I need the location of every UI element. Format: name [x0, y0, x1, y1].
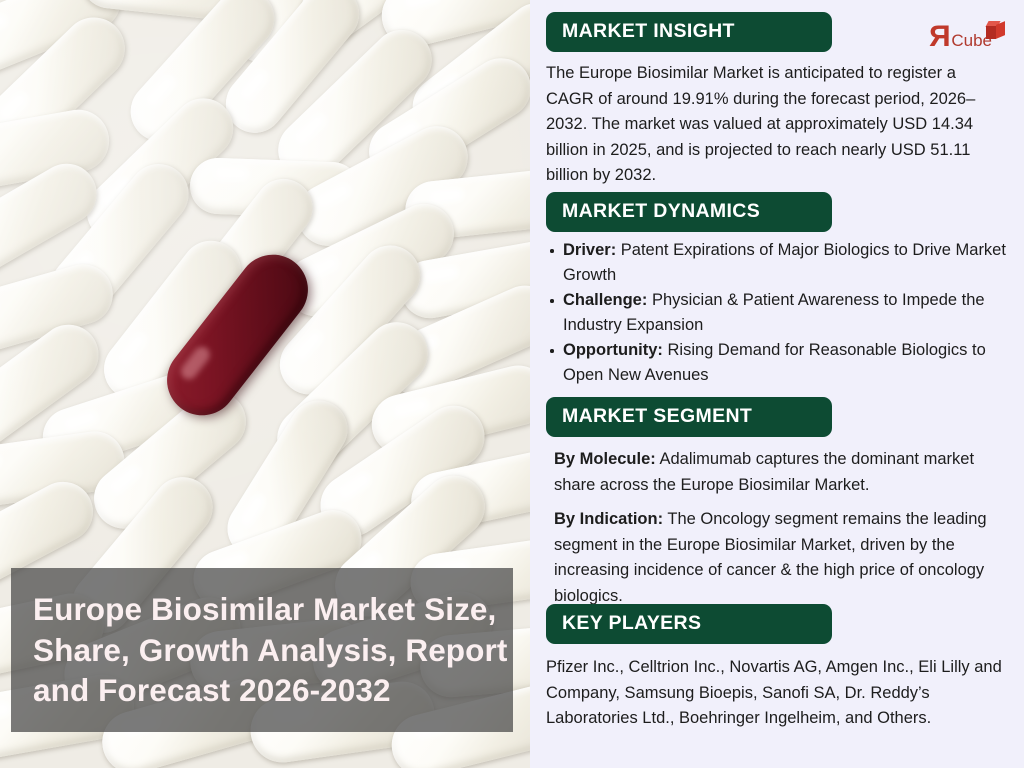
- section-heading-market-insight: MARKET INSIGHT: [546, 12, 832, 52]
- market-dynamics-list: Driver: Patent Expirations of Major Biol…: [546, 238, 1012, 388]
- section-market-segment: MARKET SEGMENT By Molecule: Adalimumab c…: [546, 397, 1016, 609]
- section-market-insight: MARKET INSIGHT The Europe Biosimilar Mar…: [546, 12, 1016, 189]
- dynamics-label: Challenge:: [563, 291, 647, 309]
- section-heading-market-segment: MARKET SEGMENT: [546, 397, 832, 437]
- market-insight-paragraph: The Europe Biosimilar Market is anticipa…: [546, 61, 1001, 189]
- key-players-paragraph: Pfizer Inc., Celltrion Inc., Novartis AG…: [546, 655, 1012, 732]
- section-market-dynamics: MARKET DYNAMICS Driver: Patent Expiratio…: [546, 192, 1016, 388]
- segment-label: By Indication:: [554, 510, 663, 528]
- infographic-page: Europe Biosimilar Market Size, Share, Gr…: [0, 0, 1024, 768]
- section-key-players: KEY PLAYERS Pfizer Inc., Celltrion Inc.,…: [546, 604, 1016, 732]
- list-item: Opportunity: Rising Demand for Reasonabl…: [546, 338, 1012, 388]
- list-item: Driver: Patent Expirations of Major Biol…: [546, 238, 1012, 288]
- list-item: Challenge: Physician & Patient Awareness…: [546, 288, 1012, 338]
- segment-by-indication: By Indication: The Oncology segment rema…: [546, 507, 1014, 609]
- section-heading-market-dynamics: MARKET DYNAMICS: [546, 192, 832, 232]
- segment-label: By Molecule:: [554, 450, 656, 468]
- dynamics-text: Patent Expirations of Major Biologics to…: [563, 241, 1006, 284]
- page-title: Europe Biosimilar Market Size, Share, Gr…: [33, 589, 513, 711]
- hero-title-box: Europe Biosimilar Market Size, Share, Gr…: [11, 568, 513, 732]
- segment-by-molecule: By Molecule: Adalimumab captures the dom…: [546, 447, 1014, 498]
- dynamics-label: Driver:: [563, 241, 616, 259]
- dynamics-label: Opportunity:: [563, 341, 663, 359]
- section-heading-key-players: KEY PLAYERS: [546, 604, 832, 644]
